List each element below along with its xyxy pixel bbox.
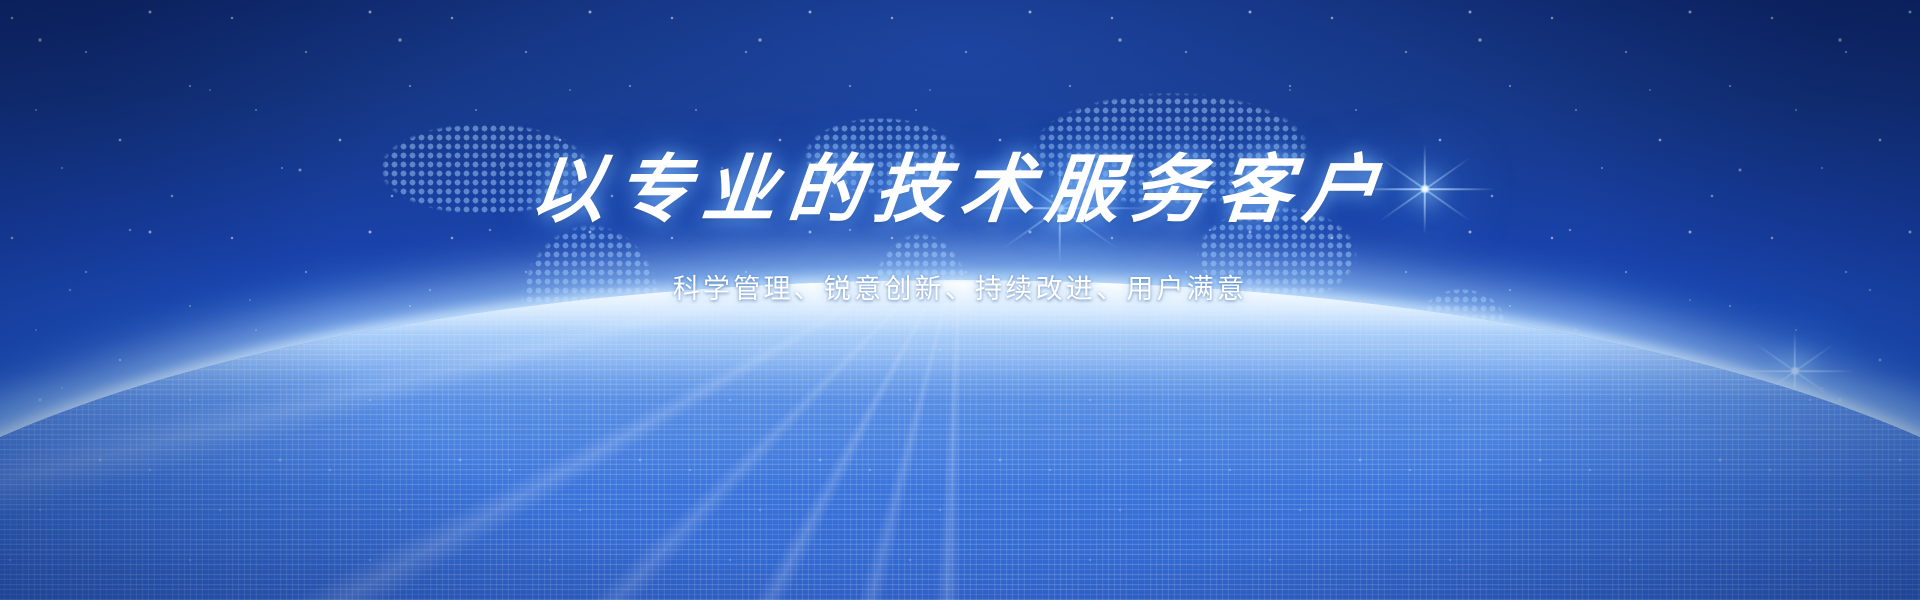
glowing-earth-horizon [0,280,1920,600]
banner-subline: 科学管理、锐意创新、持续改进、用户满意 [0,267,1920,306]
hero-banner: 以专业的技术服务客户 科学管理、锐意创新、持续改进、用户满意 [0,0,1920,600]
banner-headline: 以专业的技术服务客户 [0,150,1920,233]
banner-content: 以专业的技术服务客户 科学管理、锐意创新、持续改进、用户满意 [0,150,1920,306]
